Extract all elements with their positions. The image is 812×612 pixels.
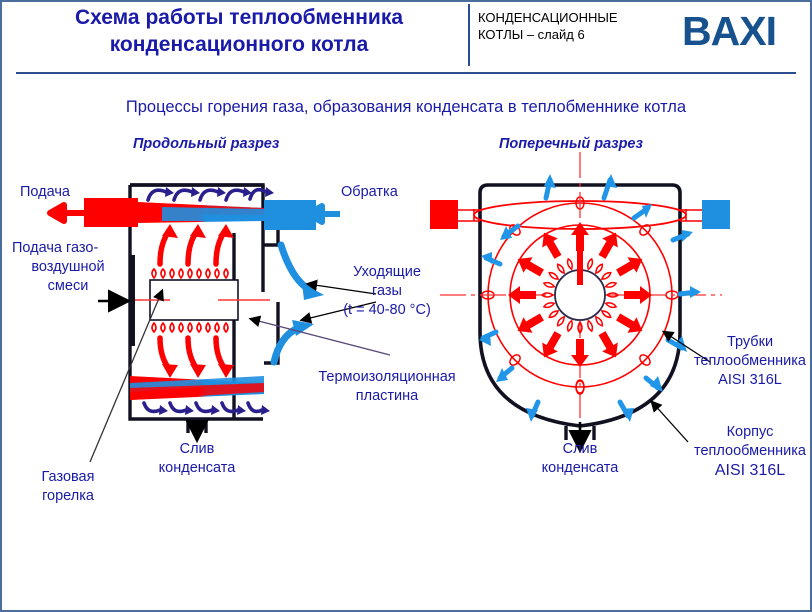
water-wedge-bottom [130,376,264,400]
label-exchanger-tubes: Трубки теплообменника AISI 316L [692,333,808,390]
label-gas-burner: Газовая горелка [20,468,116,506]
hot-gas-arrowheads-down [162,364,234,378]
slide-canvas: Схема работы теплообменника конденсацион… [0,0,812,612]
casing-right-wall [264,230,278,363]
gas-burner-box [150,280,238,320]
label-drain-left-line-2: конденсата [137,459,257,478]
flue-gas-arrow-bottom [274,328,298,362]
flue-gas-arrowhead-bottom [292,320,314,336]
label-insulation-plate-line-2: пластина [294,387,480,406]
page-title: Схема работы теплообменника конденсацион… [16,4,462,58]
cross-return-block [702,200,730,229]
label-drain-right-line-1: Слив [520,440,640,459]
swirl-arrow-heads-top [165,187,274,197]
label-gas-air-mixture-line-1: Подача газо- [12,239,124,258]
tube-markers [482,197,678,393]
label-gas-air-mixture-line-2: воздушной [12,258,124,277]
central-up-arrow [572,222,588,285]
return-pipe-block [264,200,316,230]
baxi-logo: BAXI [682,8,776,55]
water-wedge-top-cold [162,207,264,221]
header-rule [16,72,796,74]
tube-circle-inner [510,225,650,365]
label-exchanger-tubes-line-2: теплообменника [692,352,808,371]
label-exchanger-body-line-3: AISI 316L [692,461,808,480]
caption-longitudinal-section: Продольный разрез [133,136,279,152]
label-gas-burner-line-1: Газовая [20,468,116,487]
label-drain-right-line-2: конденсата [520,459,640,478]
radial-heat-arrows [508,223,652,367]
label-drain-left-line-1: Слив [137,440,257,459]
label-return: Обратка [341,183,398,202]
label-insulation-plate: Термоизоляционная пластина [294,368,480,406]
slide-subtitle: Процессы горения газа, образования конде… [2,98,810,117]
label-gas-air-mixture: Подача газо- воздушной смеси [12,239,124,296]
condensate-drain-right [566,426,594,440]
label-exchanger-tubes-line-1: Трубки [692,333,808,352]
caption-cross-section: Поперечный разрез [499,136,643,152]
header-subtitle: КОНДЕНСАЦИОННЫЕ КОТЛЫ – слайд 6 [478,9,668,43]
header-subtitle-line-2: КОТЛЫ – слайд 6 [478,26,668,43]
label-flue-gas-line-2: газы [327,282,447,301]
page-title-line-2: конденсационного котла [16,31,462,58]
label-drain-right: Слив конденсата [520,440,640,478]
swirl-arrows-top [148,190,266,200]
label-exchanger-body-line-2: теплообменника [692,442,808,461]
cross-supply-block [430,200,458,229]
header-subtitle-line-1: КОНДЕНСАЦИОННЫЕ [478,9,668,26]
header-divider [468,4,470,66]
water-wedge-bottom-hot [130,383,264,400]
flue-gas-arrowhead-top [302,283,324,300]
slide-header: Схема работы теплообменника конденсацион… [2,2,810,72]
longitudinal-section-drawing [50,185,390,462]
drain-tube-marker [576,380,584,394]
tube-circle-outer [488,203,672,387]
hot-gas-arrowheads-up [162,224,234,238]
burner-flame-row-top [152,269,228,278]
water-wedge-top-hot [136,202,264,215]
label-flue-gas: Уходящие газы (t = 40-80 °C) [327,263,447,320]
label-gas-air-mixture-line-3: смеси [12,277,124,296]
central-burner-circle [555,270,605,320]
label-flue-gas-line-1: Уходящие [327,263,447,282]
supply-pipe-block [84,198,138,227]
leader-line-gas-burner [90,291,162,462]
radial-flame-ring [542,257,618,333]
supply-arrow-icon [50,205,84,221]
water-wedge-bottom-cold [130,376,264,392]
manifold-ellipse [474,201,686,229]
peripheral-flue-arrowheads [479,174,701,422]
leader-line-insulation [251,319,390,355]
label-insulation-plate-line-1: Термоизоляционная [294,368,480,387]
return-arrow-icon [308,206,340,222]
label-exchanger-body: Корпус теплообменника AISI 316L [692,423,808,480]
burner-flame-row-bottom [152,323,228,332]
label-exchanger-tubes-line-3: AISI 316L [692,371,808,390]
label-supply: Подача [20,183,70,202]
hot-gas-arrows-down [160,338,226,370]
label-exchanger-body-line-1: Корпус [692,423,808,442]
swirl-arrow-heads-bottom [159,405,270,415]
casing-outline [130,185,263,419]
page-title-line-1: Схема работы теплообменника [16,4,462,31]
label-gas-burner-line-2: горелка [20,487,116,506]
condensate-drain-left [188,419,206,433]
swirl-arrows-bottom [144,403,262,411]
label-flue-gas-line-3: (t = 40-80 °C) [327,301,447,320]
water-wedge-top [136,202,264,223]
heat-exchanger-body-outline [480,185,680,426]
label-drain-left: Слив конденсата [137,440,257,478]
flue-gas-arrow-top [281,245,310,290]
leader-line-body [652,402,688,442]
hot-gas-arrows-up [160,230,226,264]
peripheral-flue-arrows [483,180,696,416]
